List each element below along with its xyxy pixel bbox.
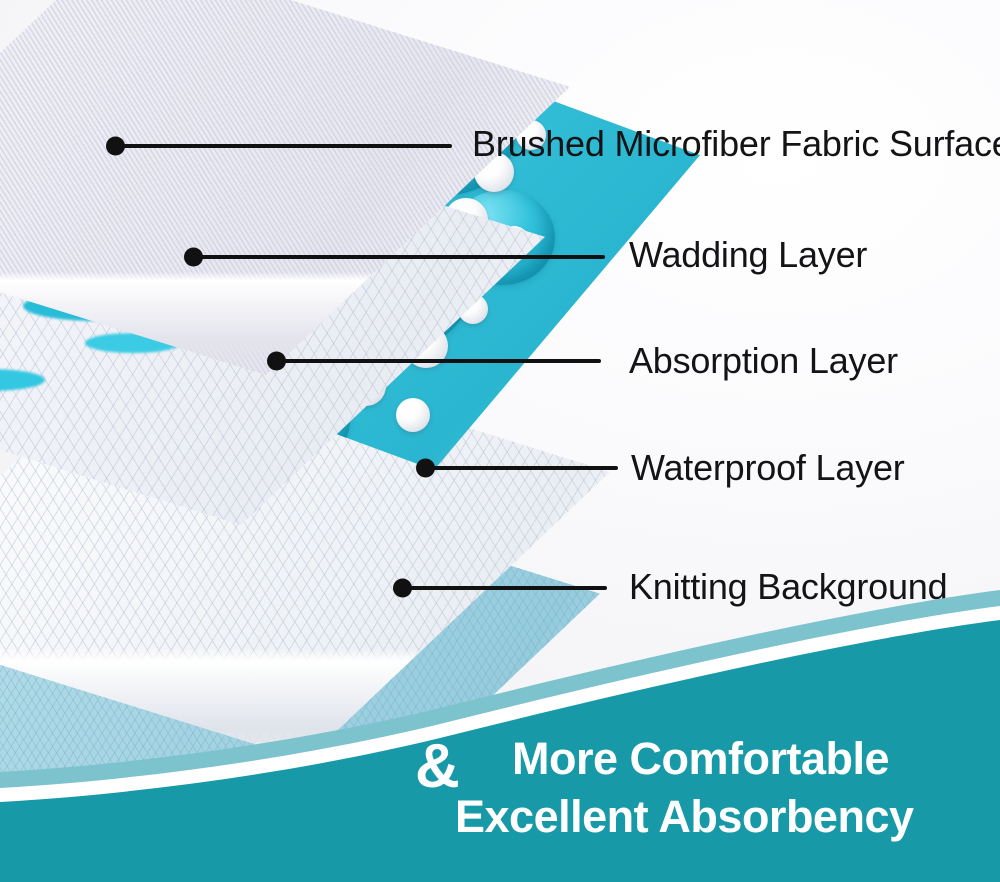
callout-label-brushed-microfiber-fabric-surface: Brushed Microfiber Fabric Surface — [472, 126, 1000, 162]
banner-headline-line-2: Excellent Absorbency — [455, 794, 914, 839]
callout-label-absorption-layer: Absorption Layer — [629, 343, 898, 379]
leader-dot-waterproof-layer — [416, 459, 435, 478]
leader-dot-absorption-layer — [267, 352, 286, 371]
banner-headline-line-1: More Comfortable — [512, 736, 889, 781]
infographic-canvas: Brushed Microfiber Fabric Surface Waddin… — [0, 0, 1000, 882]
leader-dot-brushed-microfiber-fabric-surface — [106, 137, 125, 156]
leader-line-waterproof-layer — [425, 466, 618, 470]
callout-label-waterproof-layer: Waterproof Layer — [631, 450, 905, 486]
banner-text-group: & More Comfortable Excellent Absorbency — [0, 722, 1000, 882]
leader-line-wadding-layer — [193, 255, 605, 259]
product-layer-illustration — [0, 0, 620, 800]
leader-dot-wadding-layer — [184, 248, 203, 267]
leader-line-knitting-background — [402, 586, 607, 590]
leader-line-absorption-layer — [276, 359, 601, 363]
callout-label-wadding-layer: Wadding Layer — [629, 237, 867, 273]
callout-label-knitting-background: Knitting Background — [629, 569, 947, 605]
leader-dot-knitting-background — [393, 579, 412, 598]
leader-line-brushed-microfiber-fabric-surface — [115, 144, 452, 148]
layer-brushed-microfiber — [0, 0, 570, 375]
microfiber-edge — [0, 0, 570, 375]
ampersand-glyph: & — [415, 736, 460, 798]
